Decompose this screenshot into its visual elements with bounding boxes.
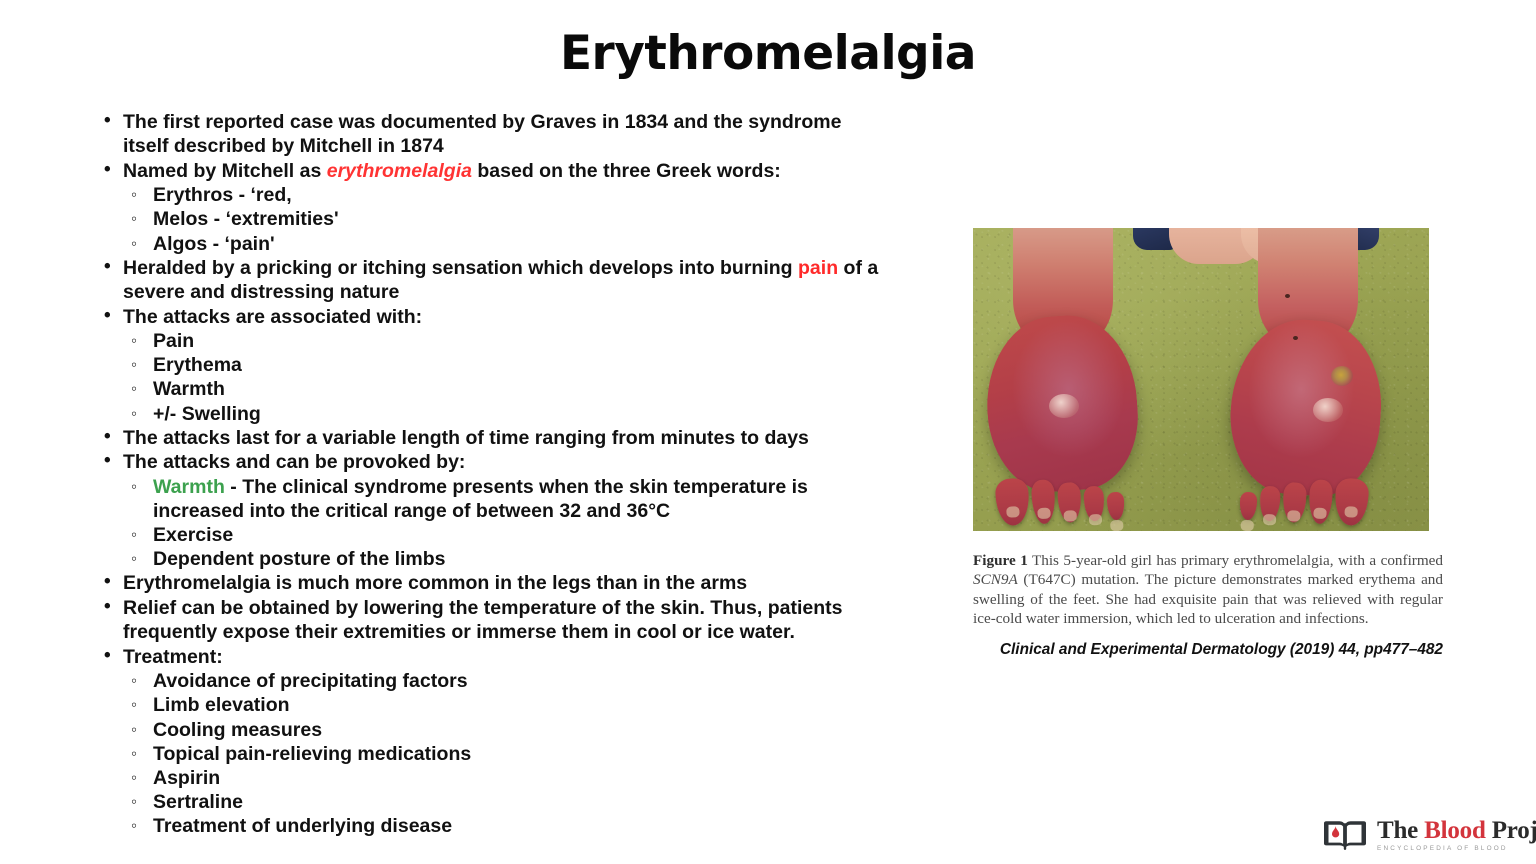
toenail (1063, 510, 1077, 522)
bullet-heralded: Heralded by a pricking or itching sensat… (100, 256, 890, 305)
greek-words-list: Erythros - ‘red, Melos - ‘extremities' A… (123, 183, 890, 256)
list-item: Melos - ‘extremities' (123, 207, 890, 231)
blood-project-logo[interactable]: The Blood Project ENCYCLOPEDIA OF BLOOD (1322, 818, 1536, 852)
figure-caption-label: Figure 1 (973, 552, 1028, 569)
list-item: Limb elevation (123, 693, 890, 717)
toe (1308, 479, 1333, 524)
logo-text-block: The Blood Project ENCYCLOPEDIA OF BLOOD (1377, 818, 1536, 852)
list-item: Algos - ‘pain' (123, 232, 890, 256)
toenail (1287, 510, 1301, 522)
bullet-treatment-text: Treatment: (123, 645, 890, 669)
bullet-relief: Relief can be obtained by lowering the t… (100, 596, 890, 645)
factor-warmth-detail: - The clinical syndrome presents when th… (153, 476, 808, 522)
list-item: Dependent posture of the limbs (123, 547, 890, 571)
toe (1031, 479, 1056, 524)
mole-right-foot (1293, 336, 1298, 340)
provoking-factors-list: Warmth - The clinical syndrome presents … (123, 475, 890, 572)
figure-citation: Clinical and Experimental Dermatology (2… (973, 641, 1447, 659)
content-body: The first reported case was documented b… (100, 110, 890, 839)
bullet-distribution-text: Erythromelalgia is much more common in t… (123, 571, 890, 595)
toenail (1110, 520, 1124, 531)
bullet-provoked: The attacks and can be provoked by: Warm… (100, 450, 890, 571)
term-erythromelalgia: erythromelalgia (327, 160, 472, 182)
logo-word-the: The (1377, 817, 1424, 844)
toenail (1240, 520, 1254, 531)
logo-tagline: ENCYCLOPEDIA OF BLOOD (1377, 846, 1536, 852)
main-bullet-list: The first reported case was documented b… (100, 110, 890, 839)
blister-left-foot (1049, 394, 1079, 418)
bullet-provoked-text: The attacks and can be provoked by: (123, 450, 890, 474)
naming-suffix: based on the three Greek words: (472, 160, 781, 182)
list-item: Erythema (123, 353, 890, 377)
blister-right-foot (1313, 398, 1343, 422)
toe (1334, 478, 1369, 527)
figure-caption: Figure 1 This 5-year-old girl has primar… (973, 551, 1443, 629)
figure-block: Figure 1 This 5-year-old girl has primar… (973, 228, 1429, 659)
bullet-duration: The attacks last for a variable length o… (100, 426, 890, 450)
toe (1107, 492, 1125, 521)
figure-caption-part2: (T647C) mutation. The picture demonstrat… (973, 571, 1443, 627)
toenail (1313, 507, 1327, 519)
list-item: Warmth (123, 377, 890, 401)
bullet-associated-text: The attacks are associated with: (123, 305, 890, 329)
logo-word-project: Project (1486, 817, 1536, 844)
bullet-duration-text: The attacks last for a variable length o… (123, 426, 890, 450)
toes-left (993, 440, 1125, 527)
toenail (1006, 506, 1020, 518)
bullet-heralded-text: Heralded by a pricking or itching sensat… (123, 256, 890, 305)
bullet-distribution: Erythromelalgia is much more common in t… (100, 571, 890, 595)
toenail (1037, 507, 1051, 519)
toe (1083, 486, 1105, 522)
toenail (1262, 514, 1276, 526)
bullet-history: The first reported case was documented b… (100, 110, 890, 159)
list-item: Exercise (123, 523, 890, 547)
figure-caption-part1: This 5-year-old girl has primary erythro… (1028, 552, 1443, 569)
mole-right-ankle (1285, 294, 1290, 298)
figure-caption-gene: SCN9A (973, 571, 1018, 588)
bullet-naming: Named by Mitchell as erythromelalgia bas… (100, 159, 890, 256)
list-item: Aspirin (123, 766, 890, 790)
bullet-relief-text: Relief can be obtained by lowering the t… (123, 596, 890, 645)
list-item: Topical pain-relieving medications (123, 742, 890, 766)
associated-features-list: Pain Erythema Warmth +/- Swelling (123, 329, 890, 426)
factor-warmth-label: Warmth (153, 476, 225, 498)
bullet-treatment: Treatment: Avoidance of precipitating fa… (100, 645, 890, 839)
list-item: Treatment of underlying disease (123, 814, 890, 838)
ulcer-right-foot (1331, 366, 1353, 386)
toe (995, 478, 1030, 527)
list-item: Cooling measures (123, 718, 890, 742)
list-item: Erythros - ‘red, (123, 183, 890, 207)
toe (1282, 482, 1307, 523)
bullet-associated: The attacks are associated with: Pain Er… (100, 305, 890, 426)
logo-word-blood: Blood (1424, 817, 1486, 844)
open-book-icon (1322, 818, 1368, 852)
list-item: Warmth - The clinical syndrome presents … (123, 475, 890, 523)
list-item: Pain (123, 329, 890, 353)
list-item: Sertraline (123, 790, 890, 814)
treatment-list: Avoidance of precipitating factors Limb … (123, 669, 890, 838)
toe (1259, 486, 1281, 522)
toe (1239, 492, 1257, 521)
term-pain: pain (798, 257, 838, 279)
naming-prefix: Named by Mitchell as (123, 160, 327, 182)
toenail (1344, 506, 1358, 518)
heralded-prefix: Heralded by a pricking or itching sensat… (123, 257, 798, 279)
list-item: +/- Swelling (123, 402, 890, 426)
toenail (1088, 514, 1102, 526)
slide-erythromelalgia: Erythromelalgia The first reported case … (0, 0, 1536, 864)
bullet-history-text: The first reported case was documented b… (123, 110, 890, 159)
toes-right (1239, 443, 1371, 527)
logo-wordmark: The Blood Project (1377, 818, 1536, 843)
toe (1057, 482, 1082, 523)
page-title: Erythromelalgia (0, 26, 1536, 81)
clinical-photo-feet (973, 228, 1429, 531)
bullet-naming-text: Named by Mitchell as erythromelalgia bas… (123, 159, 890, 183)
list-item: Avoidance of precipitating factors (123, 669, 890, 693)
